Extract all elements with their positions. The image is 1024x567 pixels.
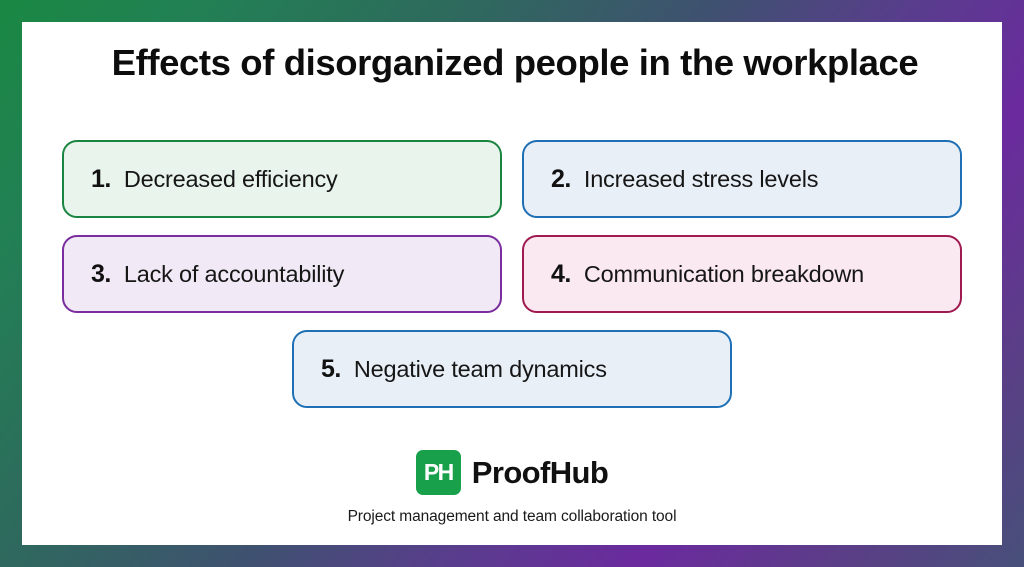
effect-card-3-number: 3. xyxy=(91,260,111,289)
effect-card-3-label: Lack of accountability xyxy=(124,261,344,288)
brand-name: ProofHub xyxy=(472,455,608,491)
infographic-canvas: Effects of disorganized people in the wo… xyxy=(22,22,1002,545)
effect-card-1-number: 1. xyxy=(91,165,111,194)
effect-card-4-number: 4. xyxy=(551,260,571,289)
card-row-1: 1. Decreased efficiency 2. Increased str… xyxy=(62,140,962,218)
effect-card-2-label: Increased stress levels xyxy=(584,166,818,193)
footer: PH ProofHub Project management and team … xyxy=(22,450,1002,526)
brand-tagline: Project management and team collaboratio… xyxy=(22,508,1002,526)
effect-card-5[interactable]: 5. Negative team dynamics xyxy=(292,330,732,408)
page-title: Effects of disorganized people in the wo… xyxy=(45,42,985,84)
effect-card-5-number: 5. xyxy=(321,355,341,384)
effect-card-2[interactable]: 2. Increased stress levels xyxy=(522,140,962,218)
card-row-3: 5. Negative team dynamics xyxy=(62,330,962,408)
effect-card-2-number: 2. xyxy=(551,165,571,194)
effect-card-1-label: Decreased efficiency xyxy=(124,166,338,193)
proofhub-logo-monogram: PH xyxy=(424,461,453,484)
effect-card-4[interactable]: 4. Communication breakdown xyxy=(522,235,962,313)
effect-card-4-label: Communication breakdown xyxy=(584,261,864,288)
proofhub-logo-icon: PH xyxy=(416,450,461,495)
brand-logo: PH ProofHub xyxy=(22,450,1002,495)
effect-card-1[interactable]: 1. Decreased efficiency xyxy=(62,140,502,218)
card-row-2: 3. Lack of accountability 4. Communicati… xyxy=(62,235,962,313)
infographic-frame: Effects of disorganized people in the wo… xyxy=(0,0,1024,567)
effect-card-5-label: Negative team dynamics xyxy=(354,356,607,383)
effect-card-3[interactable]: 3. Lack of accountability xyxy=(62,235,502,313)
effects-card-list: 1. Decreased efficiency 2. Increased str… xyxy=(62,140,962,425)
